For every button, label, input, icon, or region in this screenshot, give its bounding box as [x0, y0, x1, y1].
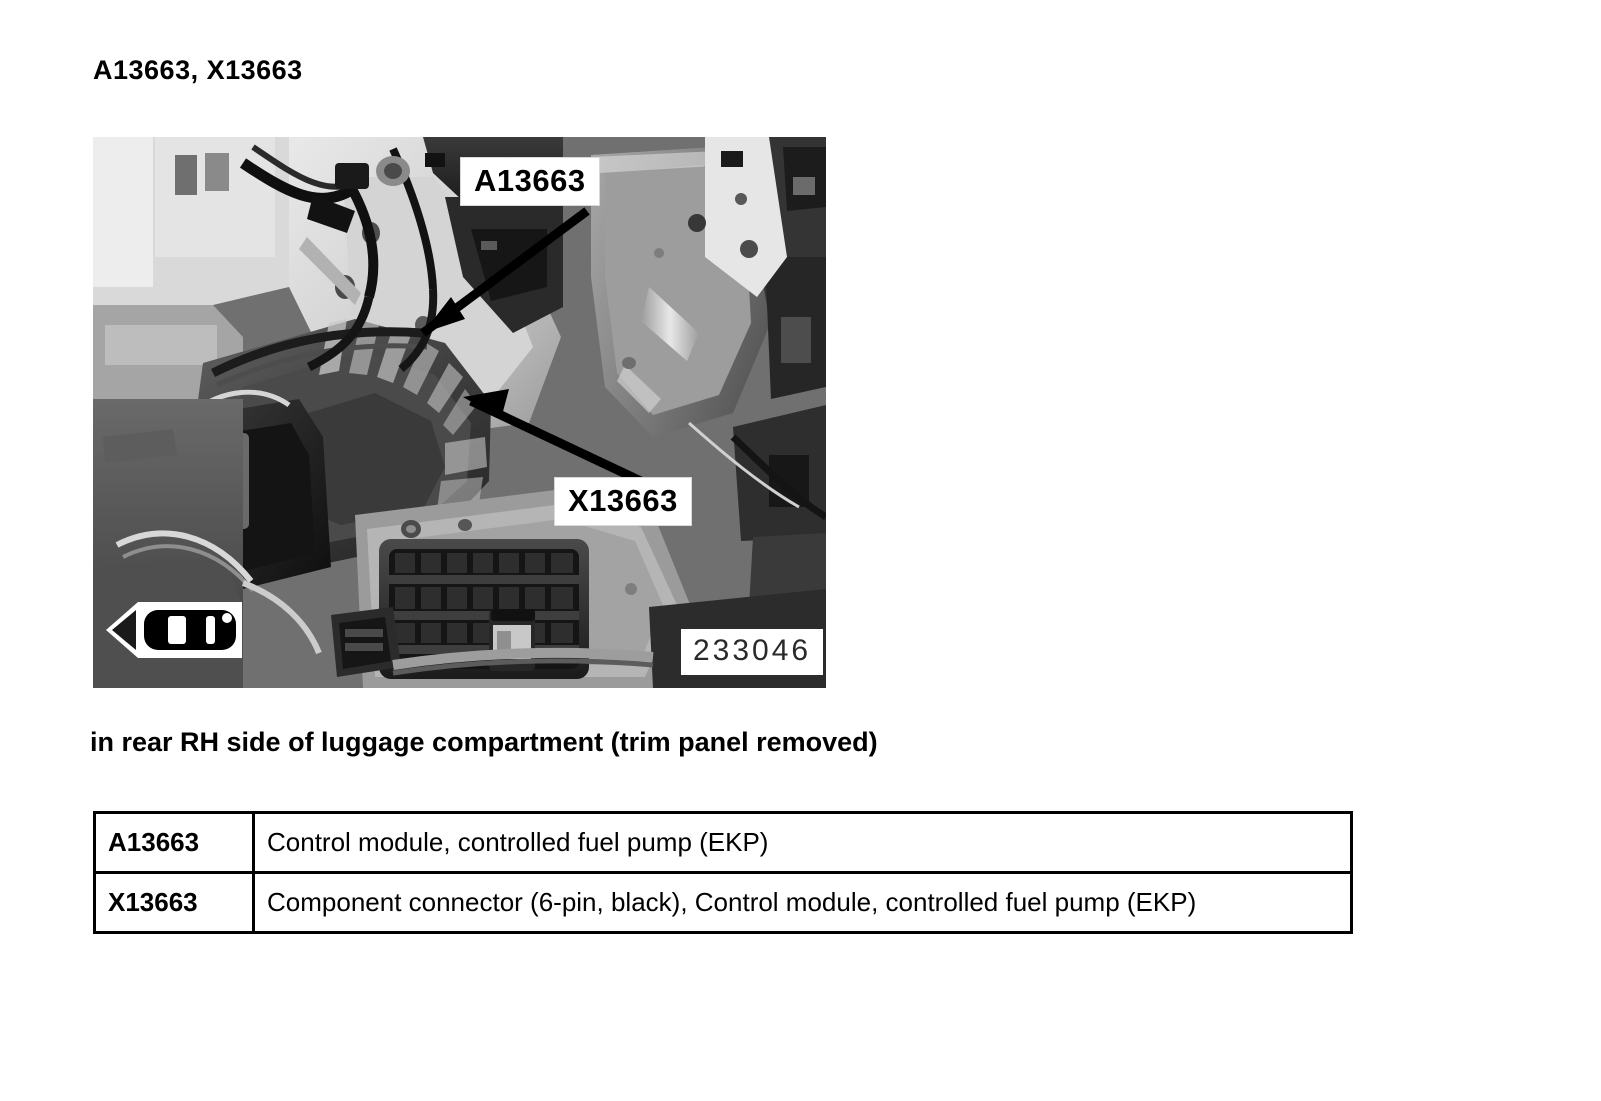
legend-description-a13663: Control module, controlled fuel pump (EK… [254, 813, 1352, 873]
figure-caption: in rear RH side of luggage compartment (… [90, 727, 878, 758]
table-row: A13663 Control module, controlled fuel p… [95, 813, 1352, 873]
component-legend-table: A13663 Control module, controlled fuel p… [93, 811, 1353, 934]
table-row: X13663 Component connector (6-pin, black… [95, 873, 1352, 933]
legend-code-a13663: A13663 [95, 813, 254, 873]
legend-code-x13663: X13663 [95, 873, 254, 933]
legend-description-x13663: Component connector (6-pin, black), Cont… [254, 873, 1352, 933]
callout-label-a13663: A13663 [461, 158, 599, 205]
vehicle-direction-arrow-icon [102, 600, 244, 660]
callout-label-x13663: X13663 [555, 478, 691, 525]
component-location-photo: A13663 X13663 233046 [93, 137, 826, 688]
page-title: A13663, X13663 [93, 55, 303, 86]
photo-id-number: 233046 [681, 629, 823, 675]
